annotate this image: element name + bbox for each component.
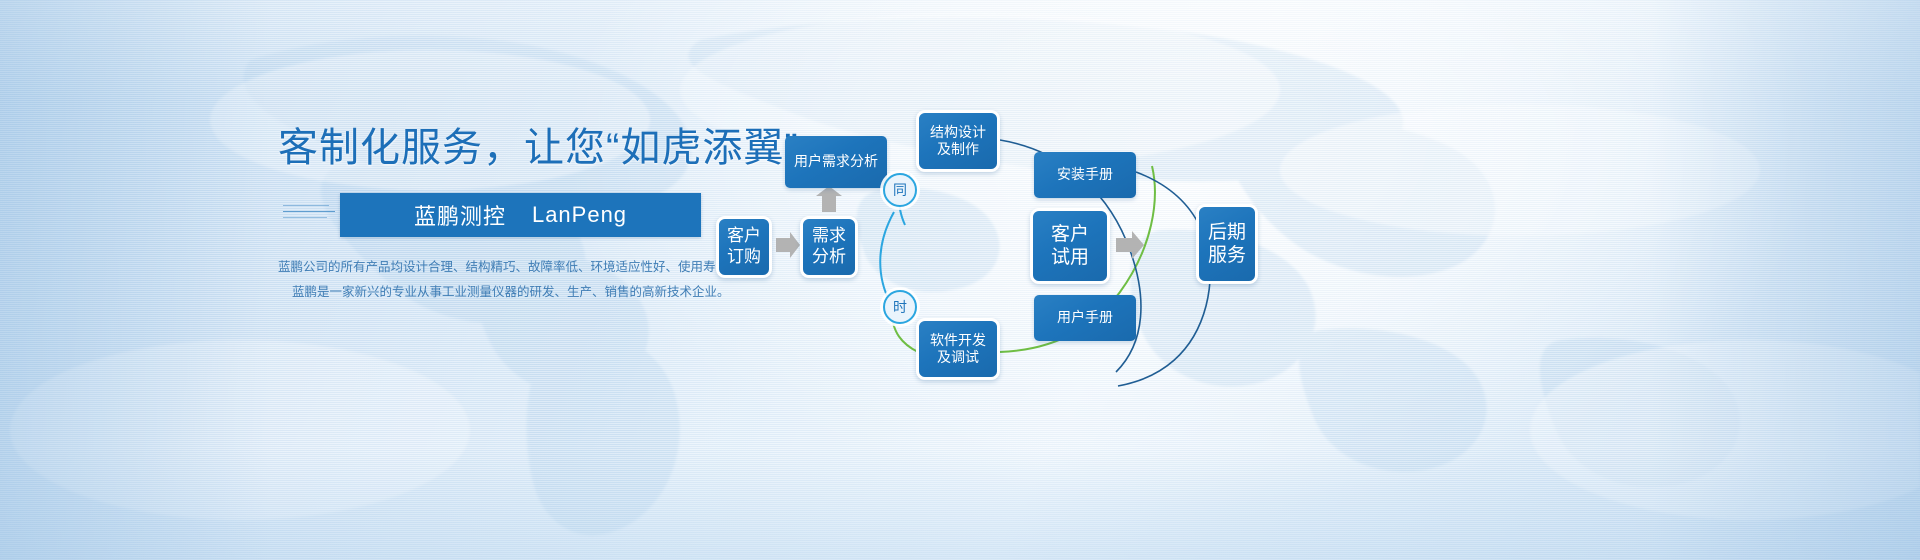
description-line-2: 蓝鹏是一家新兴的专业从事工业测量仪器的研发、生产、销售的高新技术企业。 [278,280,698,306]
arrow-trial-to-service [1116,231,1144,259]
decorative-rules-icon [283,205,335,223]
flow-node-label: 客户订购 [727,226,761,267]
flow-node-label: 结构设计及制作 [930,124,986,158]
headline-block: 客制化服务，让您“如虎添翼” 蓝鹏测控 LanPeng 蓝鹏公司的所有产品均设计… [278,126,698,306]
flow-node-requirement-analysis[interactable]: 需求分析 [800,216,858,278]
flow-node-customer-order[interactable]: 客户订购 [716,216,772,278]
flow-node-after-sales-service[interactable]: 后期服务 [1196,204,1258,284]
flow-node-label: 用户需求分析 [794,153,878,170]
banner-root: 客制化服务，让您“如虎添翼” 蓝鹏测控 LanPeng 蓝鹏公司的所有产品均设计… [0,0,1920,560]
flow-node-user-manual[interactable]: 用户手册 [1034,295,1136,341]
flow-badge-label: 同 [893,180,907,200]
brand-row: 蓝鹏测控 LanPeng [278,193,698,237]
flow-node-label: 客户试用 [1051,223,1089,269]
flow-node-user-requirement-analysis[interactable]: 用户需求分析 [785,136,887,188]
flow-node-label: 安装手册 [1057,166,1113,183]
process-flow-diagram: 用户需求分析 客户订购 需求分析 结构设计及制作 软件开发及调试 安装手册 客户… [700,0,1920,560]
arrow-analysis-to-user [816,186,842,212]
arrow-order-to-analysis [776,232,800,258]
brand-name-cn: 蓝鹏测控 [414,199,506,231]
description-block: 蓝鹏公司的所有产品均设计合理、结构精巧、故障率低、环境适应性好、使用寿命长。 蓝… [278,255,698,306]
flow-badge-shi: 时 [883,290,917,324]
flow-node-label: 需求分析 [812,226,846,267]
flow-node-label: 后期服务 [1208,221,1246,267]
flow-node-structure-design[interactable]: 结构设计及制作 [916,110,1000,172]
brand-name-en: LanPeng [532,202,627,228]
flow-node-software-development[interactable]: 软件开发及调试 [916,318,1000,380]
flow-node-label: 软件开发及调试 [930,332,986,366]
flow-connectors [700,0,1920,560]
flow-badge-tong: 同 [883,173,917,207]
brand-bar: 蓝鹏测控 LanPeng [340,193,701,237]
flow-node-installation-manual[interactable]: 安装手册 [1034,152,1136,198]
description-line-1: 蓝鹏公司的所有产品均设计合理、结构精巧、故障率低、环境适应性好、使用寿命长。 [278,255,698,281]
flow-node-label: 用户手册 [1057,309,1113,326]
flow-node-customer-trial[interactable]: 客户试用 [1030,208,1110,284]
flow-badge-label: 时 [893,297,907,317]
page-title: 客制化服务，让您“如虎添翼” [278,126,698,171]
